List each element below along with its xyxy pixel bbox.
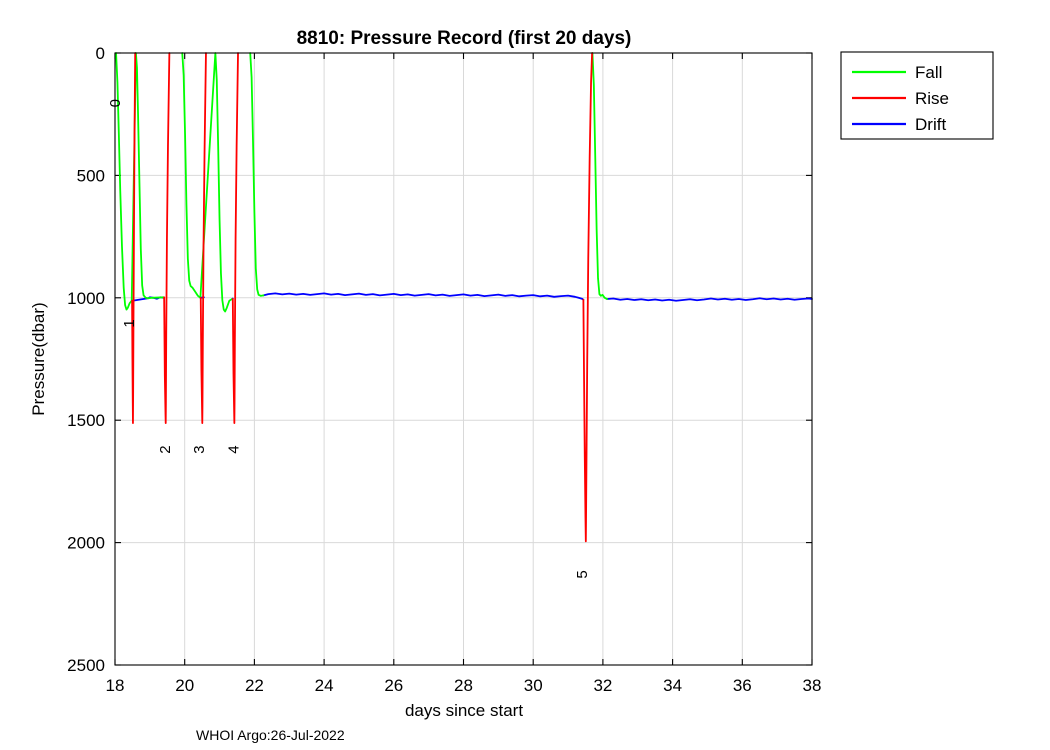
y-axis-label: Pressure(dbar) [29, 302, 48, 415]
y-tick-label: 500 [77, 166, 105, 185]
footer-credit: WHOI Argo:26-Jul-2022 [196, 727, 345, 743]
x-tick-label: 28 [454, 676, 473, 695]
x-tick-label: 32 [593, 676, 612, 695]
chart-title: 8810: Pressure Record (first 20 days) [297, 28, 632, 49]
legend: FallRiseDrift [841, 52, 993, 139]
cycle-label: 0 [107, 99, 124, 107]
y-tick-label: 1000 [67, 289, 105, 308]
x-tick-label: 26 [384, 676, 403, 695]
y-tick-label: 1500 [67, 411, 105, 430]
x-tick-label: 22 [245, 676, 264, 695]
cycle-label: 3 [191, 445, 208, 453]
x-tick-label: 20 [175, 676, 194, 695]
cycle-label: 2 [157, 445, 174, 453]
pressure-record-figure: 8810: Pressure Record (first 20 days) 01… [0, 0, 1050, 750]
x-axis-label: days since start [405, 701, 523, 720]
cycle-label: 4 [226, 445, 243, 453]
x-tick-label: 34 [663, 676, 682, 695]
x-tick-label: 30 [524, 676, 543, 695]
x-tick-label: 36 [733, 676, 752, 695]
legend-label-fall: Fall [915, 63, 942, 82]
cycle-label: 5 [574, 570, 591, 578]
y-tick-label: 2500 [67, 656, 105, 675]
x-tick-label: 18 [106, 676, 125, 695]
y-tick-label: 0 [96, 44, 105, 63]
cycle-label: 1 [121, 319, 138, 327]
legend-label-rise: Rise [915, 89, 949, 108]
x-tick-label: 38 [803, 676, 822, 695]
legend-label-drift: Drift [915, 115, 946, 134]
x-tick-label: 24 [315, 676, 334, 695]
y-tick-label: 2000 [67, 534, 105, 553]
